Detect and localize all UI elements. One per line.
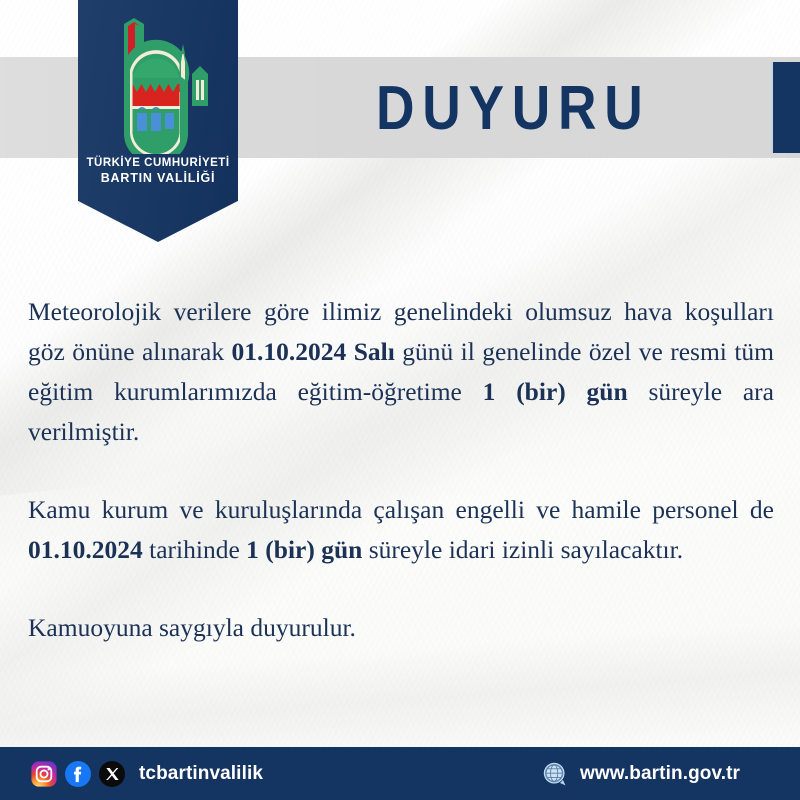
paragraph-2-bold-duration: 1 (bir) gün bbox=[246, 535, 362, 564]
paragraph-2-seg1: Kamu kurum ve kuruluşlarında çalışan eng… bbox=[28, 495, 774, 524]
facebook-icon[interactable] bbox=[65, 761, 91, 787]
globe-icon bbox=[541, 760, 568, 787]
x-twitter-icon[interactable] bbox=[99, 761, 125, 787]
paragraph-1: Meteorolojik verilere göre ilimiz geneli… bbox=[28, 292, 774, 452]
paragraph-1-bold-date: 01.10.2024 Salı bbox=[232, 337, 395, 366]
announcement-body: Meteorolojik verilere göre ilimiz geneli… bbox=[28, 292, 774, 648]
paragraph-3: Kamuoyuna saygıyla duyurulur. bbox=[28, 608, 774, 648]
footer-social-group: tcbartinvalilik bbox=[31, 747, 263, 800]
paragraph-2-seg3: süreyle idari izinli sayılacaktır. bbox=[362, 535, 683, 564]
paragraph-2: Kamu kurum ve kuruluşlarında çalışan eng… bbox=[28, 490, 774, 570]
footer-bar: tcbartinvalilik www. bbox=[0, 747, 800, 800]
bartin-coat-of-arms-icon bbox=[88, 14, 228, 154]
paragraph-2-bold-date: 01.10.2024 bbox=[28, 535, 143, 564]
emblem-caption-line2: BARTIN VALİLİĞİ bbox=[78, 171, 238, 186]
footer-website-group: www.bartin.gov.tr bbox=[541, 747, 740, 800]
paragraph-1-bold-duration: 1 (bir) gün bbox=[483, 377, 628, 406]
website-url-label[interactable]: www.bartin.gov.tr bbox=[580, 763, 740, 785]
announcement-poster: DUYURU bbox=[0, 0, 800, 800]
paragraph-2-seg2: tarihinde bbox=[143, 535, 246, 564]
emblem-caption: TÜRKİYE CUMHURİYETİ BARTIN VALİLİĞİ bbox=[78, 156, 238, 186]
social-handle-label[interactable]: tcbartinvalilik bbox=[139, 763, 263, 785]
header-right-navy-block bbox=[771, 62, 800, 153]
emblem-caption-line1: TÜRKİYE CUMHURİYETİ bbox=[78, 156, 238, 171]
page-title: DUYURU bbox=[376, 62, 651, 154]
instagram-icon[interactable] bbox=[31, 761, 57, 787]
